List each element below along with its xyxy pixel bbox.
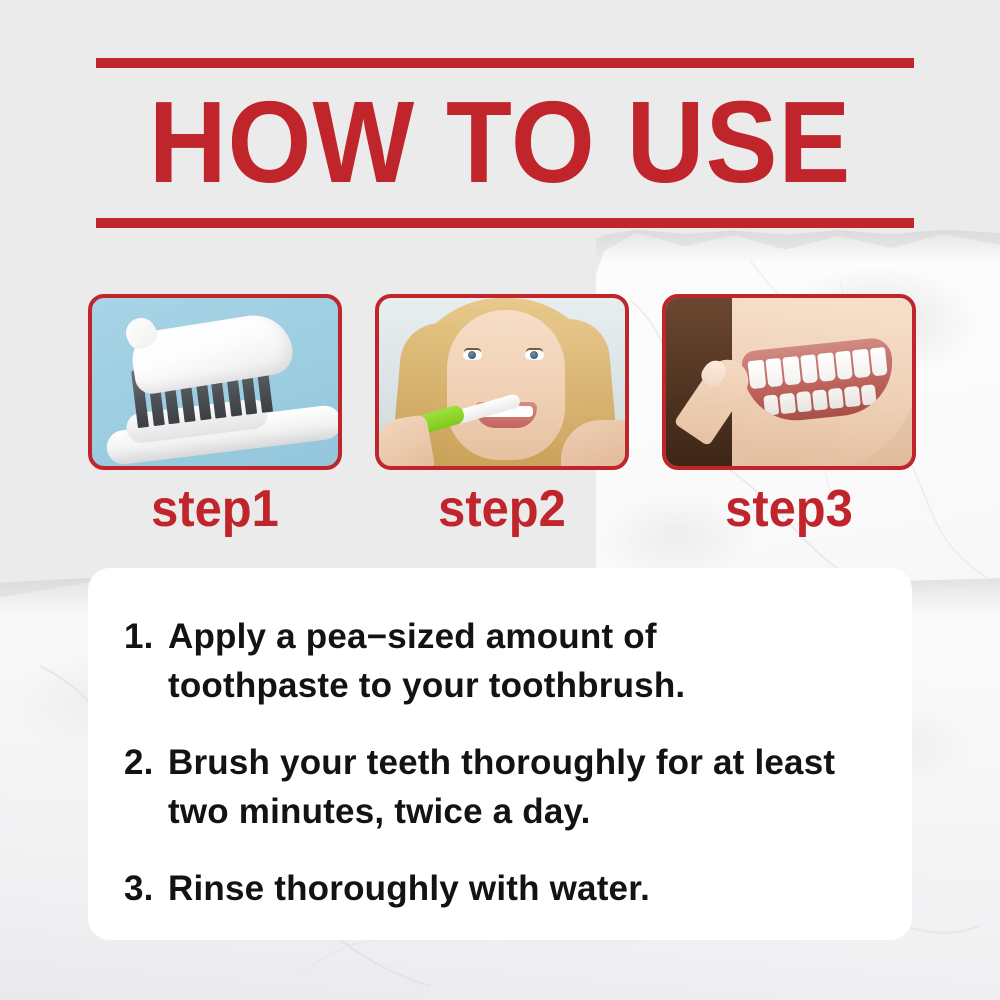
- face-shape: [447, 310, 565, 460]
- instruction-2-number: 2.: [124, 738, 168, 787]
- instruction-3-text: Rinse thoroughly with water.: [168, 864, 836, 913]
- instructions-list: 1. Apply a pea−sized amount of toothpast…: [124, 612, 882, 913]
- woman-brushing-teeth-illustration: [379, 298, 625, 466]
- white-smile-closeup-illustration: [666, 298, 912, 466]
- step-card-3: step3: [662, 294, 916, 538]
- step-card-2: step2: [375, 294, 629, 538]
- step-1-image: [88, 294, 342, 470]
- instruction-item-3: 3. Rinse thoroughly with water.: [124, 864, 882, 913]
- instruction-item-1: 1. Apply a pea−sized amount of toothpast…: [124, 612, 882, 710]
- step-2-label: step2: [383, 480, 622, 538]
- instruction-1-text: Apply a pea−sized amount of toothpaste t…: [168, 612, 836, 710]
- instruction-1-number: 1.: [124, 612, 168, 661]
- step-3-label: step3: [670, 480, 909, 538]
- lower-teeth-shape: [763, 384, 876, 416]
- upper-teeth-shape: [748, 347, 888, 389]
- instruction-3-number: 3.: [124, 864, 168, 913]
- marble-slab-right-edge: [596, 228, 1000, 270]
- hand-shape: [375, 414, 435, 470]
- steps-row: step1: [88, 294, 916, 538]
- header-rule-bottom: [96, 218, 914, 228]
- step-1-label: step1: [96, 480, 335, 538]
- toothpaste-blob-shape: [128, 310, 296, 396]
- header-rule-top: [96, 58, 914, 68]
- step-2-image: [375, 294, 629, 470]
- page-title: HOW TO USE: [35, 78, 965, 206]
- step-3-image: [662, 294, 916, 470]
- instruction-2-text: Brush your teeth thoroughly for at least…: [168, 738, 836, 836]
- how-to-use-poster: HOW TO USE step1: [0, 0, 1000, 1000]
- eye-right-shape: [525, 350, 544, 360]
- step-card-1: step1: [88, 294, 342, 538]
- toothpaste-on-toothbrush-illustration: [92, 298, 338, 466]
- instructions-card: 1. Apply a pea−sized amount of toothpast…: [88, 568, 912, 940]
- instruction-item-2: 2. Brush your teeth thoroughly for at le…: [124, 738, 882, 836]
- eye-left-shape: [463, 350, 482, 360]
